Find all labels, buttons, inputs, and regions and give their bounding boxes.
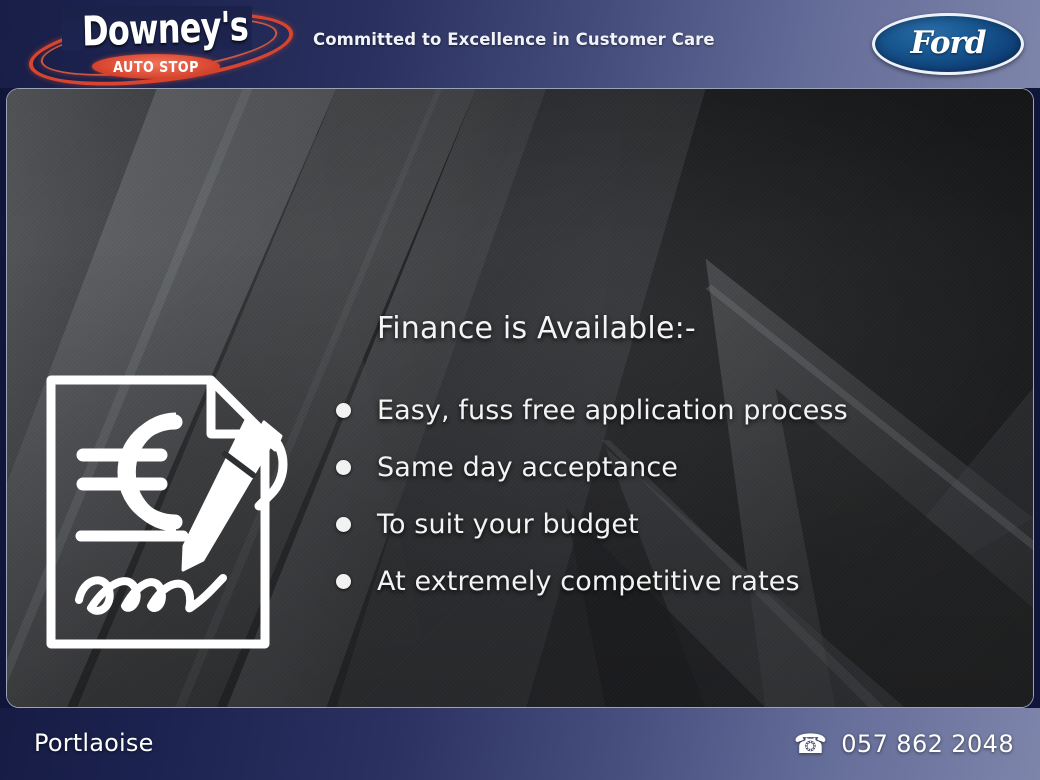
bullet-dot-icon <box>336 460 351 475</box>
finance-benefits-list: Easy, fuss free application process Same… <box>377 382 1017 610</box>
list-item: To suit your budget <box>377 496 1017 553</box>
phone-contact[interactable]: ☎ 057 862 2048 <box>794 730 1014 758</box>
list-item: Same day acceptance <box>377 439 1017 496</box>
header-tagline: Committed to Excellence in Customer Care <box>313 30 715 49</box>
finance-headline: Finance is Available:- <box>377 311 1017 346</box>
list-item-label: To suit your budget <box>377 509 639 540</box>
bullet-dot-icon <box>336 403 351 418</box>
bullet-dot-icon <box>336 517 351 532</box>
list-item-label: Easy, fuss free application process <box>377 395 848 426</box>
finance-document-signature-icon <box>43 372 313 652</box>
telephone-icon: ☎ <box>794 731 828 758</box>
finance-content: Finance is Available:- Easy, fuss free a… <box>377 311 1017 610</box>
signature-squiggle-icon <box>79 578 223 611</box>
list-item-label: At extremely competitive rates <box>377 566 800 597</box>
main-panel: Finance is Available:- Easy, fuss free a… <box>6 88 1034 708</box>
footer-bar: Portlaoise ☎ 057 862 2048 <box>0 708 1040 780</box>
phone-number[interactable]: 057 862 2048 <box>841 730 1014 758</box>
brand-name: Downey's <box>82 3 239 54</box>
ford-logo[interactable]: Ford <box>872 13 1024 75</box>
euro-symbol-icon <box>83 420 176 524</box>
dealer-location: Portlaoise <box>34 729 154 757</box>
ford-wordmark: Ford <box>872 13 1024 75</box>
header-bar: Downey's AUTO STOP Committed to Excellen… <box>0 0 1040 88</box>
list-item: Easy, fuss free application process <box>377 382 1017 439</box>
list-item: At extremely competitive rates <box>377 553 1017 610</box>
advert-stage: Downey's AUTO STOP Committed to Excellen… <box>0 0 1040 780</box>
brand-subname: AUTO STOP <box>102 55 211 80</box>
list-item-label: Same day acceptance <box>377 452 678 483</box>
downeys-logo[interactable]: Downey's AUTO STOP <box>22 4 292 86</box>
bullet-dot-icon <box>336 574 351 589</box>
